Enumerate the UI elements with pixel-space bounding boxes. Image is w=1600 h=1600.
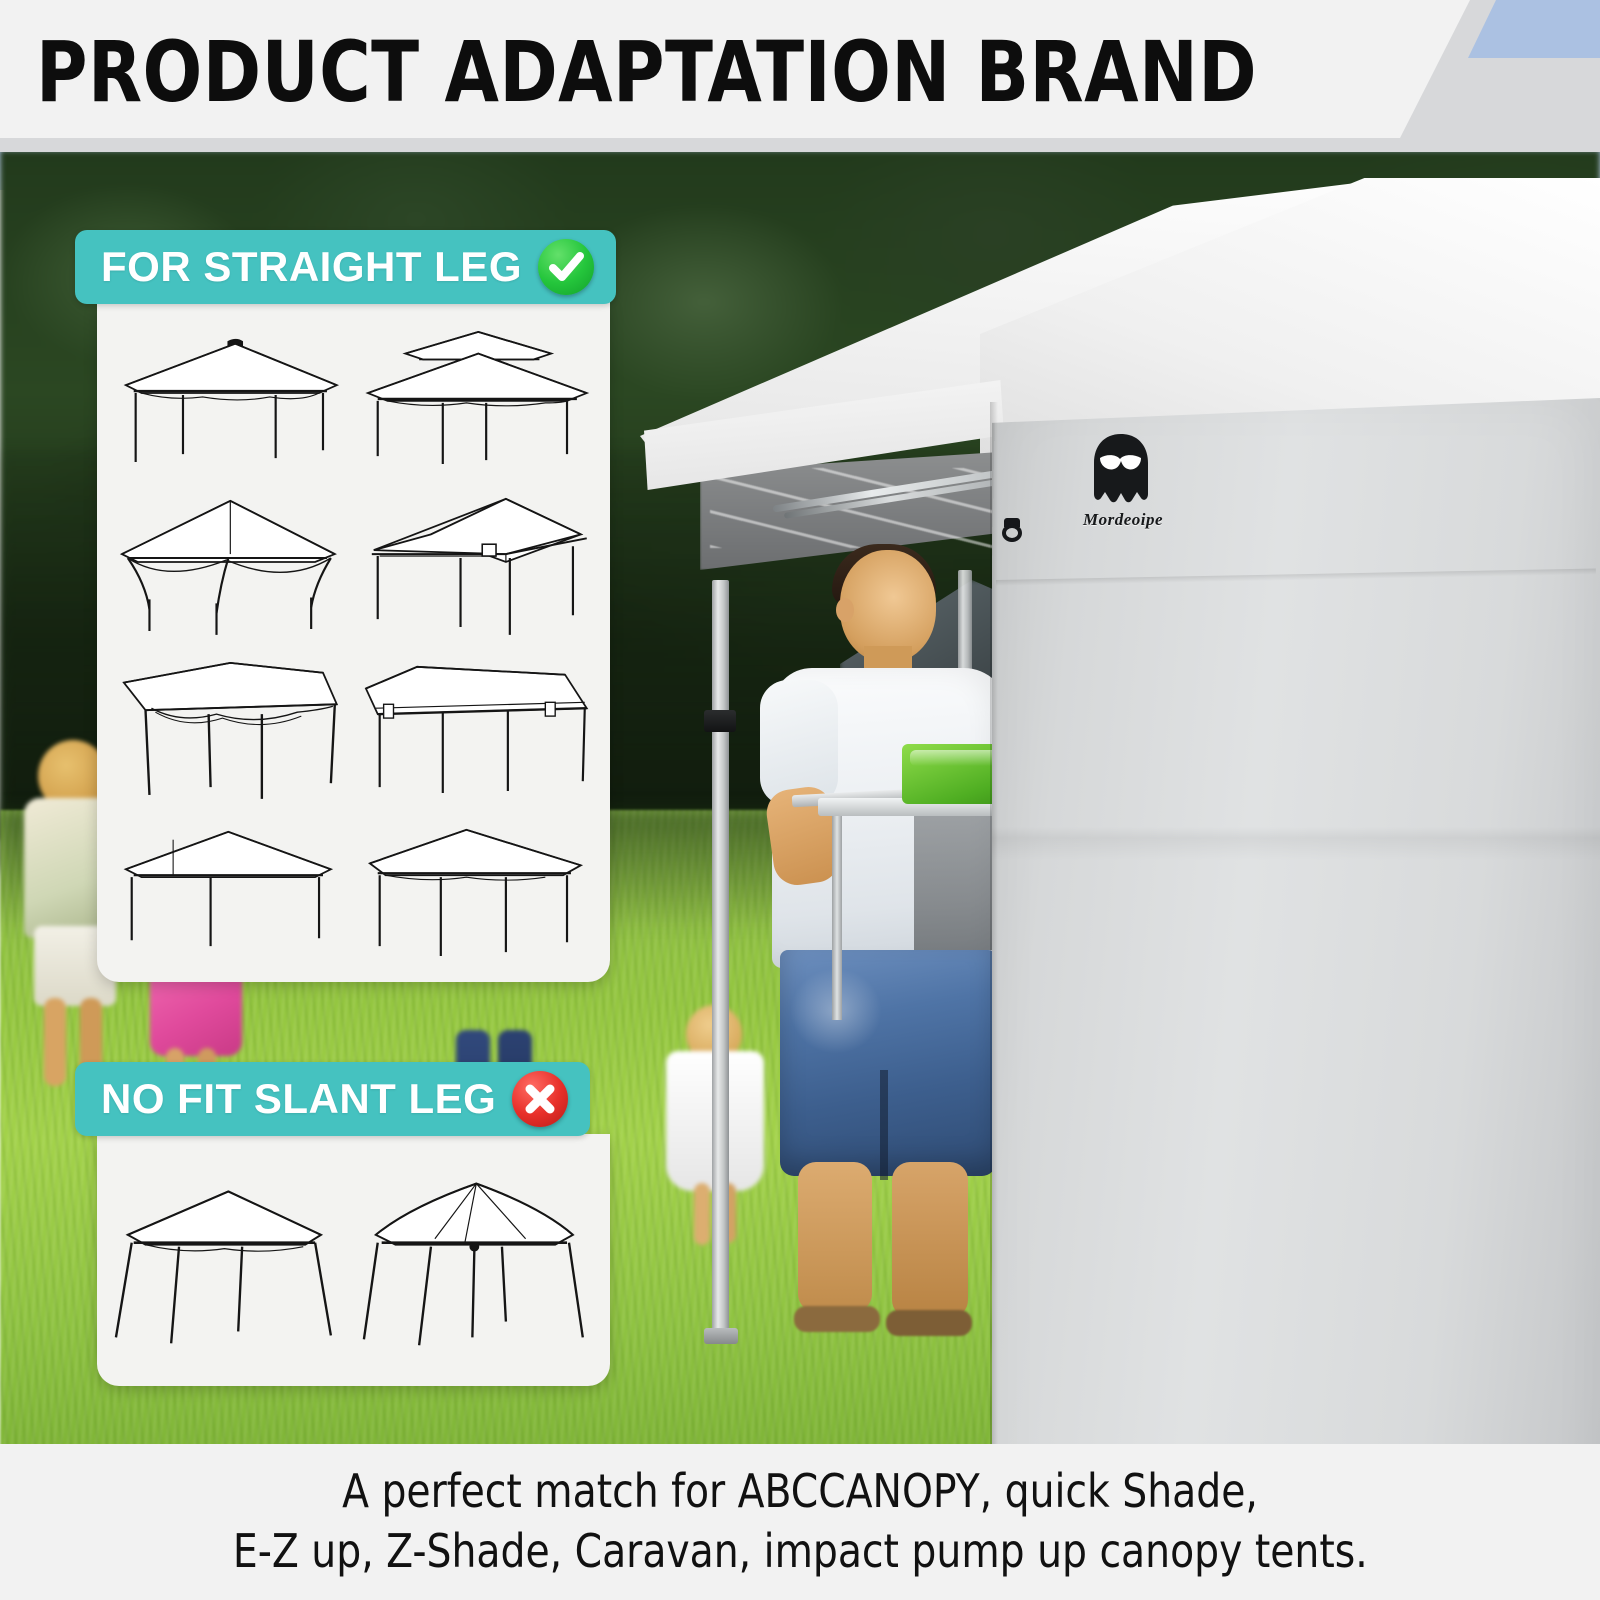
badge-straight-leg: FOR STRAIGHT LEG <box>75 230 616 304</box>
tent-sketch <box>107 810 354 975</box>
tent-sketch <box>354 316 601 481</box>
canopy-front-pole <box>712 580 729 1340</box>
badge-slant-leg-label: NO FIT SLANT LEG <box>101 1078 496 1120</box>
straight-leg-tent-panel <box>97 302 610 982</box>
tent-sketch <box>354 645 601 810</box>
sidewall-toggle-clip <box>998 518 1028 544</box>
straight-leg-tent-grid <box>97 302 610 982</box>
canopy-sidewall-folds <box>992 398 1600 1450</box>
tent-sketch <box>354 1148 601 1376</box>
cross-circle-icon <box>512 1071 568 1127</box>
page-title: PRODUCT ADAPTATION BRAND <box>36 16 1319 128</box>
tent-sketch <box>354 810 601 975</box>
canopy-pole-bracket <box>704 710 736 732</box>
badge-straight-leg-label: FOR STRAIGHT LEG <box>101 246 522 288</box>
brand-logo: Mordeoipe <box>1048 432 1198 540</box>
tent-sketch <box>354 481 601 646</box>
product-canopy: Mordeoipe <box>640 150 1600 1450</box>
canopy-pole-foot <box>704 1328 738 1344</box>
slant-leg-tent-panel <box>97 1134 610 1386</box>
tent-sketch <box>107 316 354 481</box>
tent-sketch <box>107 645 354 810</box>
caption-band: A perfect match for ABCCANOPY, quick Sha… <box>0 1444 1600 1600</box>
brand-wordmark: Mordeoipe <box>1048 510 1198 530</box>
product-infographic: Mordeoipe PRODUCT ADAPTATION BRAND FOR S… <box>0 0 1600 1600</box>
slant-leg-tent-grid <box>97 1134 610 1386</box>
ghost-sunglasses-icon <box>1086 432 1156 506</box>
caption-line-1: A perfect match for ABCCANOPY, quick Sha… <box>342 1462 1258 1522</box>
caption-line-2: E-Z up, Z-Shade, Caravan, impact pump up… <box>233 1522 1368 1582</box>
tent-sketch <box>107 481 354 646</box>
badge-slant-leg: NO FIT SLANT LEG <box>75 1062 590 1136</box>
check-circle-icon <box>538 239 594 295</box>
tent-sketch <box>107 1148 354 1376</box>
canopy-sidewall-edge <box>990 402 998 1450</box>
header-bar: PRODUCT ADAPTATION BRAND <box>0 0 1600 152</box>
